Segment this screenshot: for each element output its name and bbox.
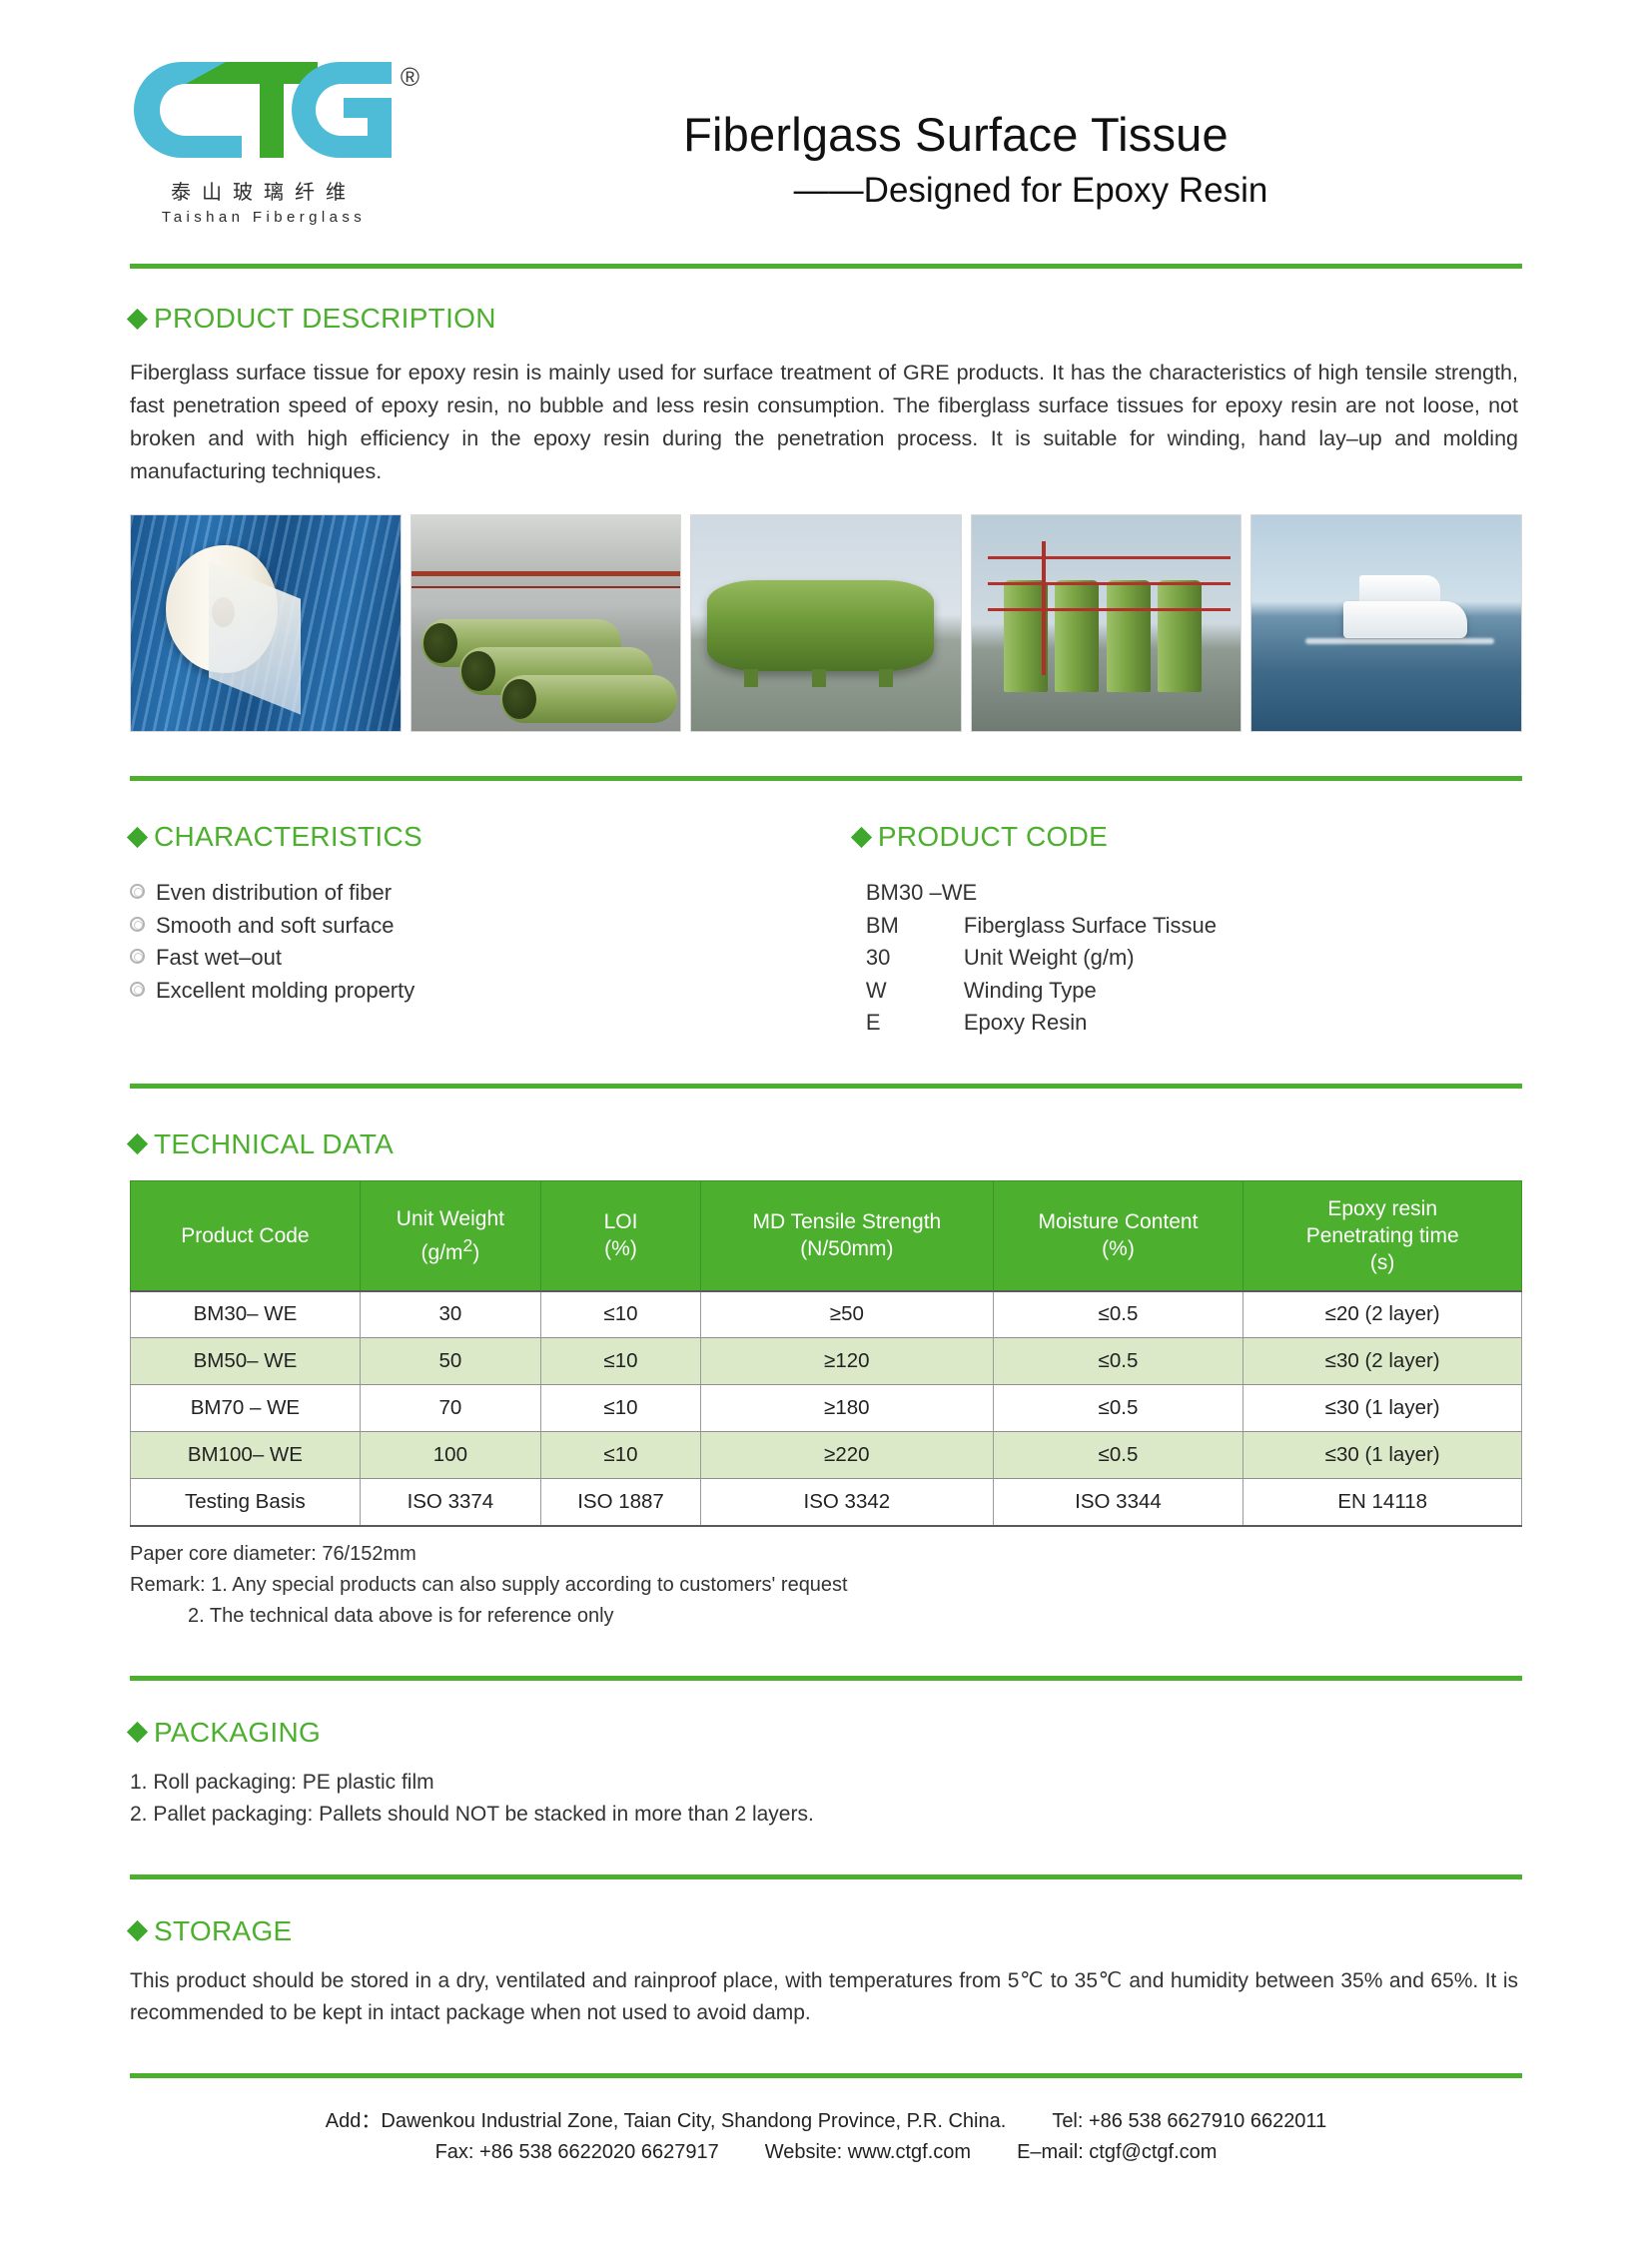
technical-notes: Paper core diameter: 76/152mm Remark: 1.…: [130, 1539, 1522, 1632]
railing-shape: [988, 582, 1231, 585]
storage-section: STORAGE This product should be stored in…: [0, 1915, 1652, 2029]
cell-product-code: BM50– WE: [131, 1338, 361, 1385]
technical-data-heading-label: TECHNICAL DATA: [154, 1128, 394, 1160]
table-row: BM30– WE 30 ≤10 ≥50 ≤0.5 ≤20 (2 layer): [131, 1291, 1522, 1338]
header-line-1: Product Code: [135, 1222, 356, 1249]
table-header-row: Product Code Unit Weight (g/m2) LOI (%) …: [131, 1180, 1522, 1291]
cell-product-code: BM70 – WE: [131, 1385, 361, 1432]
cell-moisture-content: ≤0.5: [993, 1432, 1243, 1479]
product-code-key: E: [866, 1007, 964, 1040]
packaging-body: 1. Roll packaging: PE plastic film 2. Pa…: [130, 1767, 1518, 1831]
product-photo-strip: [130, 514, 1522, 732]
table-row: BM70 – WE 70 ≤10 ≥180 ≤0.5 ≤30 (1 layer): [131, 1385, 1522, 1432]
table-head: Product Code Unit Weight (g/m2) LOI (%) …: [131, 1180, 1522, 1291]
packaging-section: PACKAGING 1. Roll packaging: PE plastic …: [0, 1717, 1652, 1831]
tank-leg-shape: [812, 669, 826, 687]
list-item: Smooth and soft surface: [130, 910, 854, 943]
footer-fax: Fax: +86 538 6622020 6627917: [435, 2137, 719, 2168]
header-line-2: (N/50mm): [705, 1235, 989, 1262]
company-name-english: Taishan Fiberglass: [130, 209, 398, 226]
characteristics-productcode-row: CHARACTERISTICS Even distribution of fib…: [0, 821, 1652, 1040]
ring-bullet-icon: [130, 917, 145, 932]
product-code-value: Winding Type: [964, 975, 1522, 1008]
cell-penetrating-time: EN 14118: [1243, 1479, 1522, 1526]
column-header-unit-weight: Unit Weight (g/m2): [360, 1180, 540, 1291]
header-line-1: LOI: [545, 1208, 696, 1235]
list-item: Fast wet–out: [130, 942, 854, 975]
yacht-superstructure-shape: [1359, 575, 1440, 603]
note-paper-core: Paper core diameter: 76/152mm: [130, 1539, 1522, 1570]
column-header-md-tensile-strength: MD Tensile Strength (N/50mm): [701, 1180, 994, 1291]
yacht-wake-shape: [1305, 638, 1494, 644]
vertical-tank-shape: [1107, 580, 1151, 692]
cell-penetrating-time: ≤30 (1 layer): [1243, 1432, 1522, 1479]
table-row: BM50– WE 50 ≤10 ≥120 ≤0.5 ≤30 (2 layer): [131, 1338, 1522, 1385]
packaging-heading-label: PACKAGING: [154, 1717, 321, 1749]
characteristic-label: Excellent molding property: [156, 975, 414, 1008]
cell-loi: ≤10: [540, 1432, 700, 1479]
header-line-1: MD Tensile Strength: [705, 1208, 989, 1235]
column-header-moisture-content: Moisture Content (%): [993, 1180, 1243, 1291]
column-header-product-code: Product Code: [131, 1180, 361, 1291]
photo-gre-pipes-factory: [411, 514, 682, 732]
cell-moisture-content: ≤0.5: [993, 1291, 1243, 1338]
page-subtitle: ——Designed for Epoxy Resin: [429, 171, 1482, 211]
list-item: E Epoxy Resin: [866, 1007, 1522, 1040]
railing-shape: [988, 608, 1231, 611]
title-block: Fiberlgass Surface Tissue ——Designed for…: [429, 52, 1522, 211]
cell-moisture-content: ≤0.5: [993, 1338, 1243, 1385]
diamond-bullet-icon: [127, 1920, 148, 1941]
table-row: BM100– WE 100 ≤10 ≥220 ≤0.5 ≤30 (1 layer…: [131, 1432, 1522, 1479]
product-description-heading: PRODUCT DESCRIPTION: [130, 303, 1522, 335]
product-code-section: PRODUCT CODE BM30 –WE BM Fiberglass Surf…: [854, 821, 1522, 1040]
cell-moisture-content: ≤0.5: [993, 1385, 1243, 1432]
photo-vertical-frp-tanks: [971, 514, 1242, 732]
yacht-hull-shape: [1343, 601, 1467, 638]
datasheet-page: ® 泰山玻璃纤维 Taishan Fiberglass Fiberlgass S…: [0, 0, 1652, 2242]
company-logo: ® 泰山玻璃纤维 Taishan Fiberglass: [130, 52, 429, 226]
diamond-bullet-icon: [127, 308, 148, 329]
characteristic-label: Fast wet–out: [156, 942, 282, 975]
railing-shape: [988, 556, 1231, 559]
footer-email[interactable]: E–mail: ctgf@ctgf.com: [1017, 2137, 1217, 2168]
header-line-2: Penetrating time: [1247, 1222, 1517, 1249]
cell-penetrating-time: ≤30 (1 layer): [1243, 1385, 1522, 1432]
cell-unit-weight: 50: [360, 1338, 540, 1385]
page-header: ® 泰山玻璃纤维 Taishan Fiberglass Fiberlgass S…: [0, 0, 1652, 250]
list-item: 30 Unit Weight (g/m): [866, 942, 1522, 975]
footer-address: Add：Dawenkou Industrial Zone, Taian City…: [326, 2106, 1007, 2137]
column-header-loi: LOI (%): [540, 1180, 700, 1291]
vertical-tank-shape: [1055, 580, 1099, 692]
page-title: Fiberlgass Surface Tissue: [429, 110, 1482, 161]
cell-loi: ISO 1887: [540, 1479, 700, 1526]
cell-md-tensile-strength: ≥180: [701, 1385, 994, 1432]
packaging-line-1: 1. Roll packaging: PE plastic film: [130, 1767, 1518, 1799]
header-line-1: Unit Weight: [365, 1205, 536, 1232]
product-code-example-row: BM30 –WE: [866, 877, 1522, 910]
product-description-section: PRODUCT DESCRIPTION Fiberglass surface t…: [0, 269, 1652, 488]
characteristic-label: Smooth and soft surface: [156, 910, 394, 943]
list-item: BM Fiberglass Surface Tissue: [866, 910, 1522, 943]
cell-loi: ≤10: [540, 1338, 700, 1385]
packaging-line-2: 2. Pallet packaging: Pallets should NOT …: [130, 1799, 1518, 1831]
list-item: Excellent molding property: [130, 975, 854, 1008]
characteristics-heading-label: CHARACTERISTICS: [154, 821, 422, 853]
cell-penetrating-time: ≤20 (2 layer): [1243, 1291, 1522, 1338]
divider-before-technical: [130, 1084, 1522, 1089]
header-line-2: (%): [545, 1235, 696, 1262]
stair-shape: [1042, 541, 1046, 675]
header-line-2: (g/m2): [365, 1232, 536, 1266]
divider-after-photos: [130, 776, 1522, 781]
cell-loi: ≤10: [540, 1385, 700, 1432]
product-code-heading: PRODUCT CODE: [854, 821, 1522, 853]
cell-md-tensile-strength: ≥50: [701, 1291, 994, 1338]
gre-pipe-shape: [500, 675, 678, 723]
cell-product-code: BM100– WE: [131, 1432, 361, 1479]
tissue-sheet-shape: [209, 561, 301, 714]
cell-md-tensile-strength: ISO 3342: [701, 1479, 994, 1526]
tank-leg-shape: [879, 669, 893, 687]
cell-moisture-content: ISO 3344: [993, 1479, 1243, 1526]
note-remark-1: Remark: 1. Any special products can also…: [130, 1570, 1522, 1601]
header-line-1: Moisture Content: [998, 1208, 1239, 1235]
cell-unit-weight: 70: [360, 1385, 540, 1432]
divider-before-storage: [130, 1874, 1522, 1879]
product-description-heading-label: PRODUCT DESCRIPTION: [154, 303, 496, 335]
cell-unit-weight: 30: [360, 1291, 540, 1338]
company-name-chinese: 泰山玻璃纤维: [130, 176, 398, 205]
cell-penetrating-time: ≤30 (2 layer): [1243, 1338, 1522, 1385]
frp-tank-shape: [707, 580, 933, 671]
ring-bullet-icon: [130, 949, 145, 964]
diamond-bullet-icon: [127, 826, 148, 847]
footer-line-1: Add：Dawenkou Industrial Zone, Taian City…: [130, 2106, 1522, 2137]
list-item: W Winding Type: [866, 975, 1522, 1008]
diamond-bullet-icon: [127, 1722, 148, 1743]
storage-heading: STORAGE: [130, 1915, 1522, 1947]
list-item: Even distribution of fiber: [130, 877, 854, 910]
footer-line-2: Fax: +86 538 6622020 6627917 Website: ww…: [130, 2137, 1522, 2168]
table-row-testing-basis: Testing Basis ISO 3374 ISO 1887 ISO 3342…: [131, 1479, 1522, 1526]
technical-data-section: TECHNICAL DATA Product Code Unit Weight …: [0, 1128, 1652, 1632]
photo-horizontal-frp-tank: [690, 514, 962, 732]
product-code-list: BM30 –WE BM Fiberglass Surface Tissue 30…: [854, 877, 1522, 1040]
footer-website[interactable]: Website: www.ctgf.com: [765, 2137, 971, 2168]
page-footer: Add：Dawenkou Industrial Zone, Taian City…: [0, 2106, 1652, 2168]
ring-bullet-icon: [130, 982, 145, 997]
cell-md-tensile-strength: ≥220: [701, 1432, 994, 1479]
note-remark-2: 2. The technical data above is for refer…: [130, 1601, 1522, 1632]
technical-data-heading: TECHNICAL DATA: [130, 1128, 1522, 1160]
cell-product-code: BM30– WE: [131, 1291, 361, 1338]
characteristics-section: CHARACTERISTICS Even distribution of fib…: [130, 821, 854, 1040]
cell-loi: ≤10: [540, 1291, 700, 1338]
characteristics-list: Even distribution of fiber Smooth and so…: [130, 877, 854, 1007]
tank-leg-shape: [744, 669, 758, 687]
cell-unit-weight: 100: [360, 1432, 540, 1479]
photo-yacht-at-sea: [1250, 514, 1522, 732]
diamond-bullet-icon: [851, 826, 872, 847]
product-code-value: Epoxy Resin: [964, 1007, 1522, 1040]
table-body: BM30– WE 30 ≤10 ≥50 ≤0.5 ≤20 (2 layer) B…: [131, 1291, 1522, 1526]
product-code-value: Unit Weight (g/m): [964, 942, 1522, 975]
footer-tel: Tel: +86 538 6627910 6622011: [1052, 2106, 1326, 2137]
product-description-body: Fiberglass surface tissue for epoxy resi…: [130, 357, 1518, 488]
product-code-key: 30: [866, 942, 964, 975]
ring-bullet-icon: [130, 884, 145, 899]
storage-heading-label: STORAGE: [154, 1915, 293, 1947]
cell-unit-weight: ISO 3374: [360, 1479, 540, 1526]
cell-product-code: Testing Basis: [131, 1479, 361, 1526]
characteristics-heading: CHARACTERISTICS: [130, 821, 854, 853]
divider-before-footer: [130, 2073, 1522, 2078]
header-line-2: (%): [998, 1235, 1239, 1262]
product-code-value: Fiberglass Surface Tissue: [964, 910, 1522, 943]
ctg-logo-svg: [130, 60, 398, 162]
header-line-3: (s): [1247, 1249, 1517, 1276]
product-code-heading-label: PRODUCT CODE: [878, 821, 1108, 853]
packaging-heading: PACKAGING: [130, 1717, 1522, 1749]
characteristic-label: Even distribution of fiber: [156, 877, 392, 910]
header-line-1: Epoxy resin: [1247, 1195, 1517, 1222]
divider-before-packaging: [130, 1676, 1522, 1681]
diamond-bullet-icon: [127, 1133, 148, 1154]
column-header-epoxy-penetrating-time: Epoxy resin Penetrating time (s): [1243, 1180, 1522, 1291]
cell-md-tensile-strength: ≥120: [701, 1338, 994, 1385]
storage-body: This product should be stored in a dry, …: [130, 1965, 1518, 2029]
registered-trademark-icon: ®: [401, 62, 419, 93]
product-code-key: BM: [866, 910, 964, 943]
technical-data-table: Product Code Unit Weight (g/m2) LOI (%) …: [130, 1180, 1522, 1527]
vertical-tank-shape: [1158, 580, 1202, 692]
product-code-key: W: [866, 975, 964, 1008]
photo-fiberglass-tissue-roll: [130, 514, 402, 732]
product-code-example: BM30 –WE: [866, 877, 1522, 910]
ctg-logo-mark: ®: [130, 60, 398, 162]
